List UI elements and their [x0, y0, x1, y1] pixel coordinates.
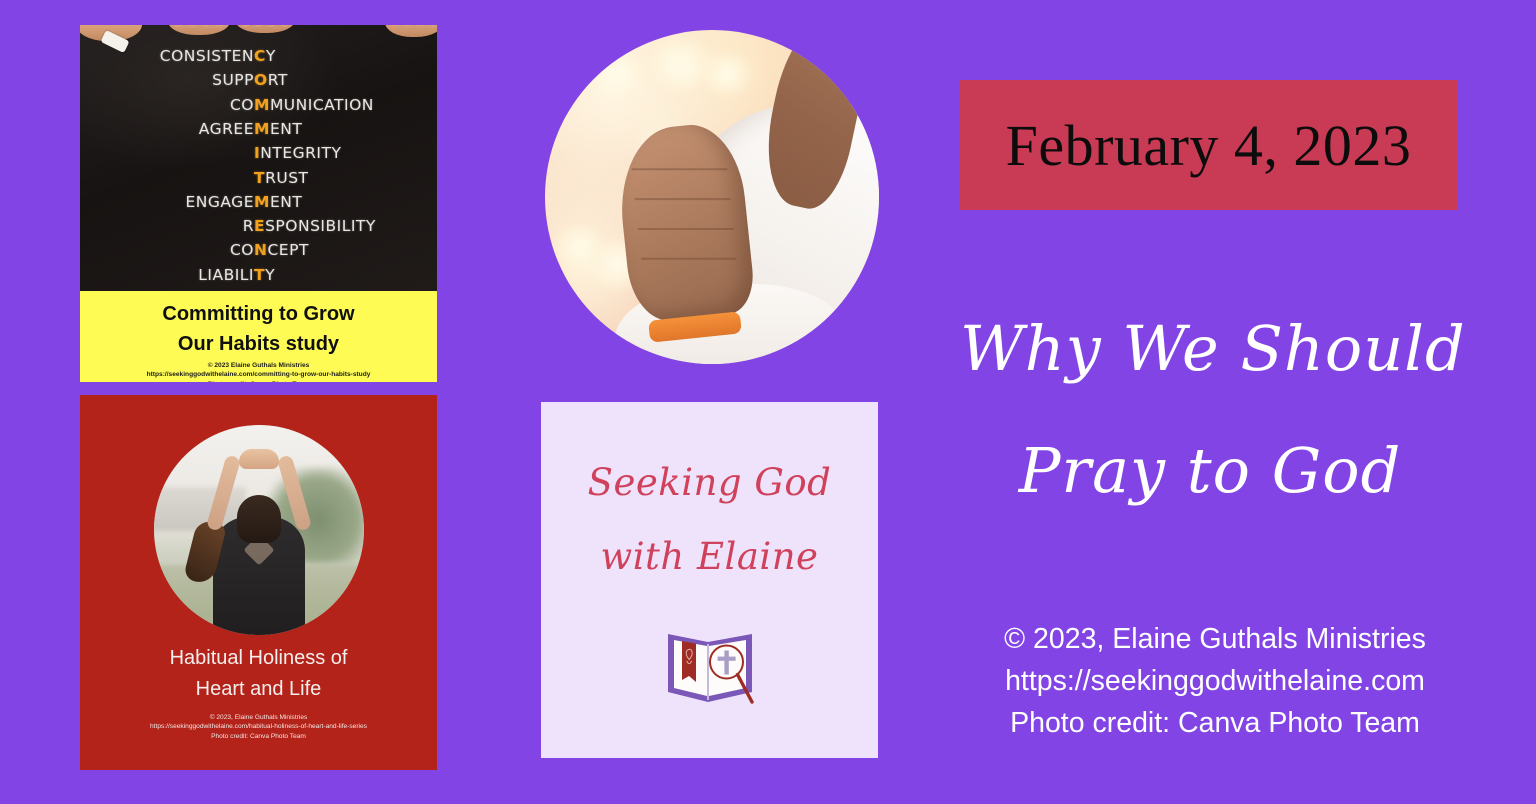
acrostic-suffix: RT — [268, 71, 288, 89]
holiness-fineprint-photo-credit: Photo credit: Canva Photo Team — [80, 732, 437, 741]
credit-website-url[interactable]: https://seekinggodwithelaine.com — [950, 660, 1480, 702]
credit-photo-credit: Photo credit: Canva Photo Team — [950, 702, 1480, 744]
finger-crease — [635, 198, 731, 200]
credit-block: © 2023, Elaine Guthals Ministries https:… — [950, 618, 1480, 744]
acrostic-suffix: Y — [265, 266, 275, 284]
holiness-caption-line-2: Heart and Life — [80, 674, 437, 705]
habits-fineprint-url[interactable]: https://seekinggodwithelaine.com/committ… — [80, 370, 437, 379]
hand-right — [385, 25, 437, 37]
acrostic-suffix: ENT — [270, 193, 302, 211]
acrostic-prefix: R — [243, 217, 254, 235]
acrostic-key-letter: E — [254, 217, 265, 235]
photo-figure-hands — [239, 449, 279, 469]
holiness-caption-line-1: Habitual Holiness of — [80, 643, 437, 674]
holiness-caption-block: Habitual Holiness of Heart and Life © 20… — [80, 643, 437, 741]
habits-caption-line-2: Our Habits study — [80, 329, 437, 359]
hand-middle-right — [235, 25, 295, 33]
habits-caption-line-1: Committing to Grow — [80, 299, 437, 329]
card-habitual-holiness[interactable]: Habitual Holiness of Heart and Life © 20… — [80, 395, 437, 770]
acrostic-prefix: CO — [230, 96, 254, 114]
holiness-fineprint-copyright: © 2023, Elaine Guthals Ministries — [80, 713, 437, 722]
photo-figure-head — [237, 495, 281, 543]
acrostic-key-letter: M — [254, 96, 270, 114]
date-text: February 4, 2023 — [1006, 112, 1412, 179]
brand-line-2: with Elaine — [541, 520, 878, 594]
page-title: Why We Should Pray to God — [960, 288, 1460, 532]
open-book-magnifier-cross-icon — [662, 620, 758, 717]
title-line-1: Why We Should — [960, 288, 1460, 410]
acrostic-prefix: CONSISTEN — [160, 47, 254, 65]
finger-crease — [631, 168, 727, 170]
acrostic-suffix: NTEGRITY — [260, 144, 341, 162]
habits-fineprint-copyright: © 2023 Elaine Guthals Ministries — [80, 361, 437, 370]
acrostic-key-letter: T — [254, 169, 265, 187]
date-banner: February 4, 2023 — [960, 80, 1457, 210]
poster-canvas: CONSISTENCYSUPPORTCOMMUNICATIONAGREEMENT… — [0, 0, 1536, 804]
card-committing-to-grow[interactable]: CONSISTENCYSUPPORTCOMMUNICATIONAGREEMENT… — [80, 25, 437, 382]
acrostic-prefix: ENGAGE — [185, 193, 254, 211]
hand-middle-left — [168, 25, 230, 35]
acrostic-key-letter: C — [254, 47, 266, 65]
acrostic-suffix: RUST — [265, 169, 308, 187]
habits-caption-band: Committing to Grow Our Habits study © 20… — [80, 291, 437, 382]
acrostic-key-letter: T — [254, 266, 265, 284]
chalkboard-image: CONSISTENCYSUPPORTCOMMUNICATIONAGREEMENT… — [80, 25, 437, 291]
acrostic-key-letter: M — [254, 193, 270, 211]
praying-hands-photo — [545, 30, 879, 364]
acrostic-suffix: MUNICATION — [270, 96, 374, 114]
acrostic-suffix: Y — [266, 47, 276, 65]
card-seeking-god-with-elaine[interactable]: Seeking God with Elaine — [541, 402, 878, 758]
acrostic-key-letter: O — [254, 71, 268, 89]
acrostic-key-letter: N — [254, 241, 267, 259]
acrostic-suffix: SPONSIBILITY — [265, 217, 376, 235]
holiness-fineprint-url[interactable]: https://seekinggodwithelaine.com/habitua… — [80, 722, 437, 731]
acrostic-prefix: CO — [230, 241, 254, 259]
stretching-woman-photo — [154, 425, 364, 635]
habits-fineprint-photo-credit: Photo credit: Canva Photo Team — [80, 380, 437, 382]
acrostic-suffix: ENT — [270, 120, 302, 138]
bokeh-highlight — [649, 40, 713, 90]
finger-crease — [638, 228, 734, 230]
bokeh-highlight — [589, 52, 645, 98]
finger-crease — [641, 258, 737, 260]
acrostic-prefix: LIABILI — [198, 266, 254, 284]
brand-line-1: Seeking God — [541, 446, 878, 520]
acrostic-key-letter: M — [254, 120, 270, 138]
title-line-2: Pray to God — [960, 410, 1460, 532]
acrostic-prefix: SUPP — [212, 71, 254, 89]
acrostic-prefix: AGREE — [199, 120, 254, 138]
credit-copyright: © 2023, Elaine Guthals Ministries — [950, 618, 1480, 660]
bokeh-highlight — [703, 54, 751, 94]
acrostic-suffix: CEPT — [267, 241, 308, 259]
